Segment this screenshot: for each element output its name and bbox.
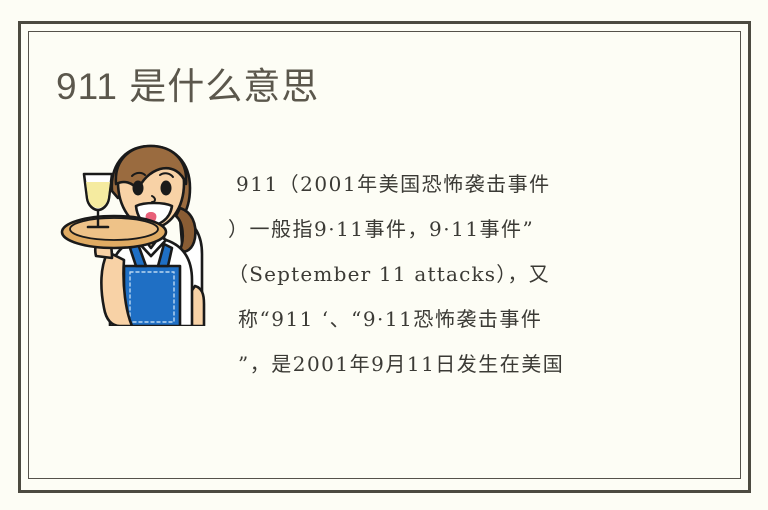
tray-inner bbox=[70, 218, 158, 240]
left-eye bbox=[133, 181, 144, 196]
body-line-5: ”，是2001年9月11日发生在美国 bbox=[228, 342, 698, 387]
ponytail bbox=[176, 208, 195, 251]
body-line-2: ）一般指9·11事件，9·11事件” bbox=[228, 207, 698, 252]
content-card: 911 是什么意思 bbox=[0, 0, 768, 510]
body-line-1: 911（2001年美国恐怖袭击事件 bbox=[228, 162, 698, 207]
article-body: 911（2001年美国恐怖袭击事件 ）一般指9·11事件，9·11事件” （Se… bbox=[228, 162, 698, 387]
body-line-4: 称“911 ‘、“9·11恐怖袭击事件 bbox=[228, 297, 698, 342]
page-title: 911 是什么意思 bbox=[56, 62, 319, 112]
apron-body bbox=[124, 266, 180, 326]
waitress-with-tray-illustration bbox=[52, 136, 212, 326]
body-line-3: （September 11 attacks），又 bbox=[228, 252, 698, 297]
right-eye bbox=[161, 181, 172, 196]
